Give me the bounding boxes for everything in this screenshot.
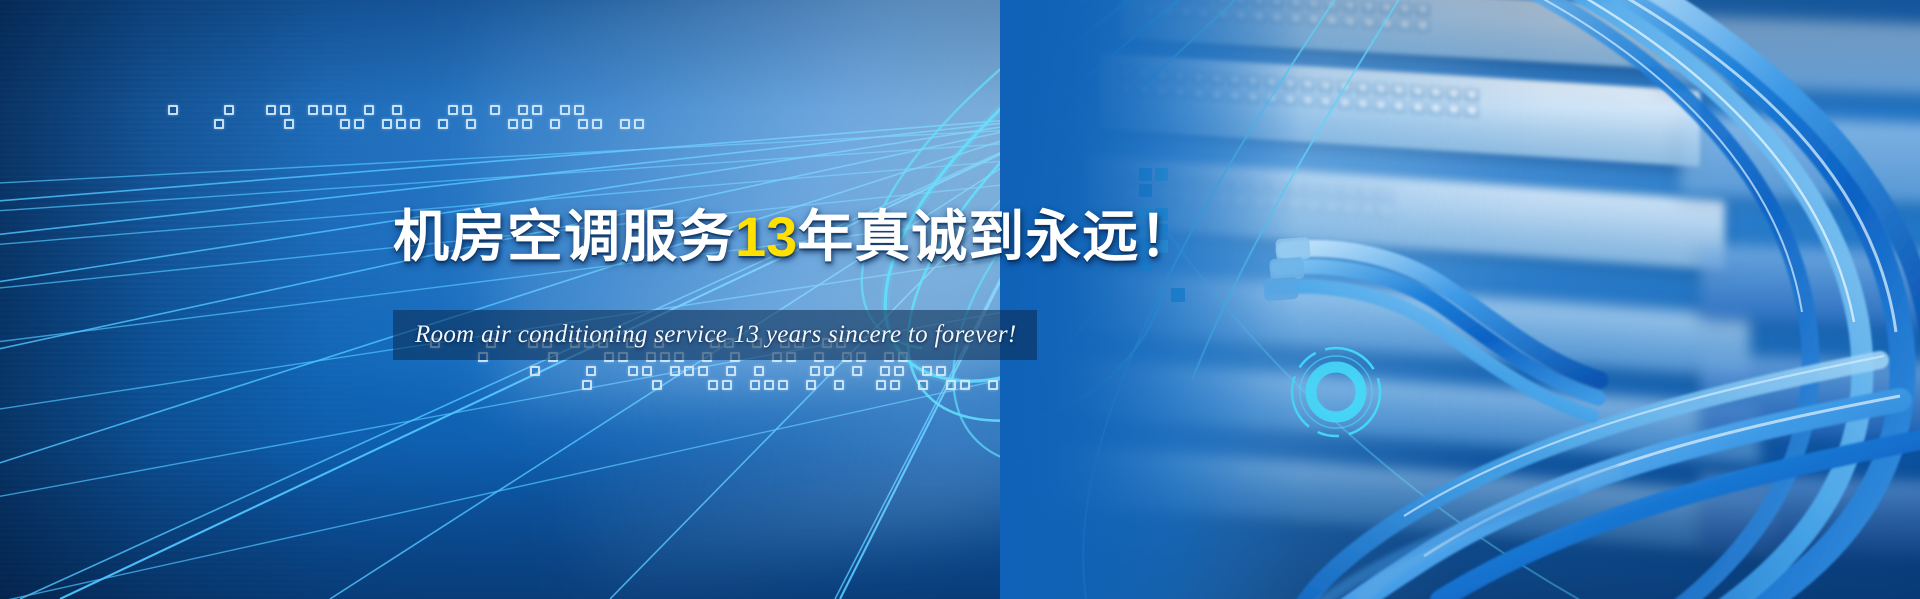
- headline-part-1: 机房空调服务: [393, 205, 735, 270]
- server-switch-photo: [1000, 0, 1920, 599]
- binary-square-pattern-top-2: [214, 119, 648, 129]
- network-cables: [1000, 0, 1920, 599]
- binary-square-pattern-bottom-2: [582, 380, 1016, 390]
- subtitle: Room air conditioning service 13 years s…: [415, 310, 1035, 360]
- hero-banner: 机房空调服务13年真诚到永远！ Room air conditioning se…: [0, 0, 1920, 599]
- headline-years-number: 13: [735, 205, 797, 268]
- page-title: 机房空调服务13年真诚到永远！: [393, 205, 1196, 270]
- headline-part-2: 年真诚到永远！: [797, 205, 1196, 270]
- binary-square-pattern-top: [168, 105, 588, 115]
- binary-square-pattern-bottom: [530, 366, 950, 376]
